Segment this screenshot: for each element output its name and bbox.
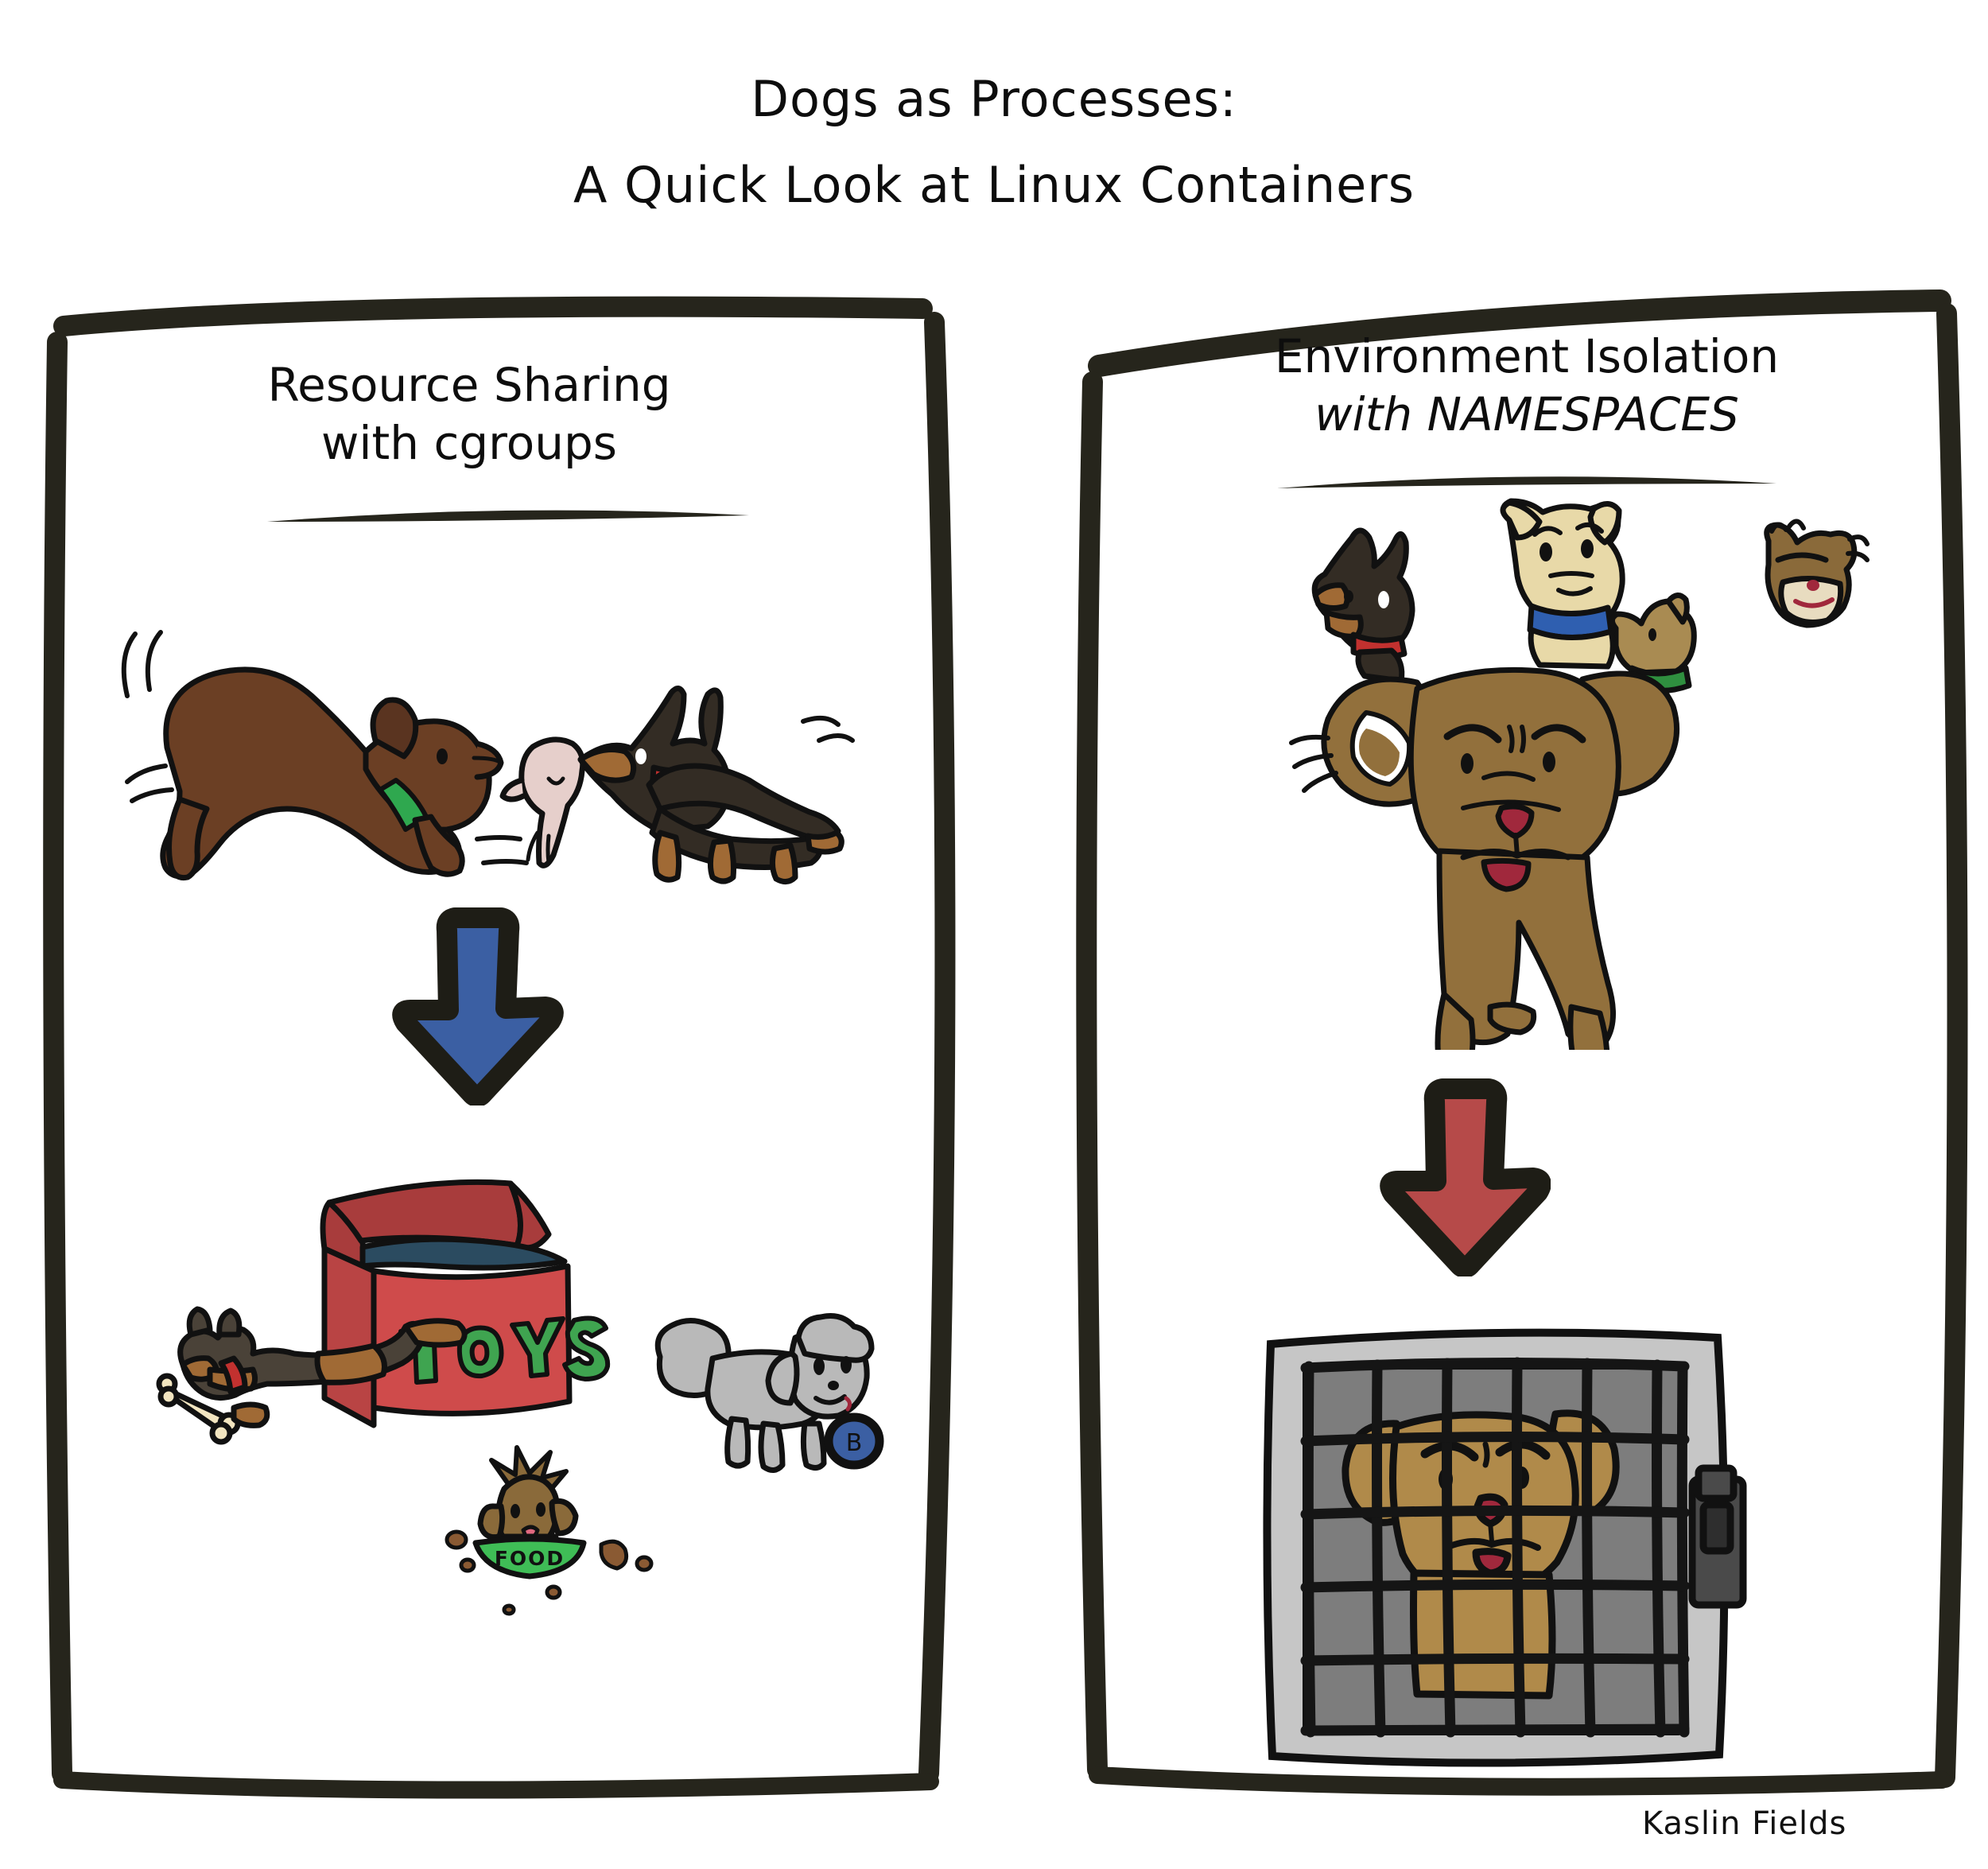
page-title-line2: A Quick Look at Linux Containers	[0, 156, 1988, 214]
tug-of-war-scene	[103, 600, 859, 887]
right-panel-heading: Environment Isolation with NAMESPACES	[1177, 328, 1877, 444]
page-title-line1: Dogs as Processes:	[0, 70, 1988, 128]
down-arrow-red	[1376, 1078, 1551, 1276]
isolated-dog-scene	[1288, 493, 1877, 1050]
left-panel-heading-line2: with cgroups	[167, 414, 771, 472]
down-arrow-blue	[390, 907, 565, 1105]
svg-text:B: B	[846, 1429, 863, 1457]
svg-text:FOOD: FOOD	[495, 1547, 565, 1570]
left-panel-heading-line1: Resource Sharing	[167, 356, 771, 414]
artist-signature: Kaslin Fields	[1642, 1805, 1846, 1842]
right-heading-underline	[1272, 466, 1781, 493]
right-panel-heading-line2: with NAMESPACES	[1177, 386, 1877, 444]
right-panel-heading-line1: Environment Isolation	[1177, 328, 1877, 386]
left-heading-underline	[262, 501, 755, 528]
illustration-canvas: Dogs as Processes: A Quick Look at Linux…	[0, 0, 1988, 1869]
crate-scene	[1256, 1320, 1765, 1782]
shared-resources-scene: FOOD	[135, 1145, 938, 1654]
left-panel-heading: Resource Sharing with cgroups	[167, 356, 771, 472]
